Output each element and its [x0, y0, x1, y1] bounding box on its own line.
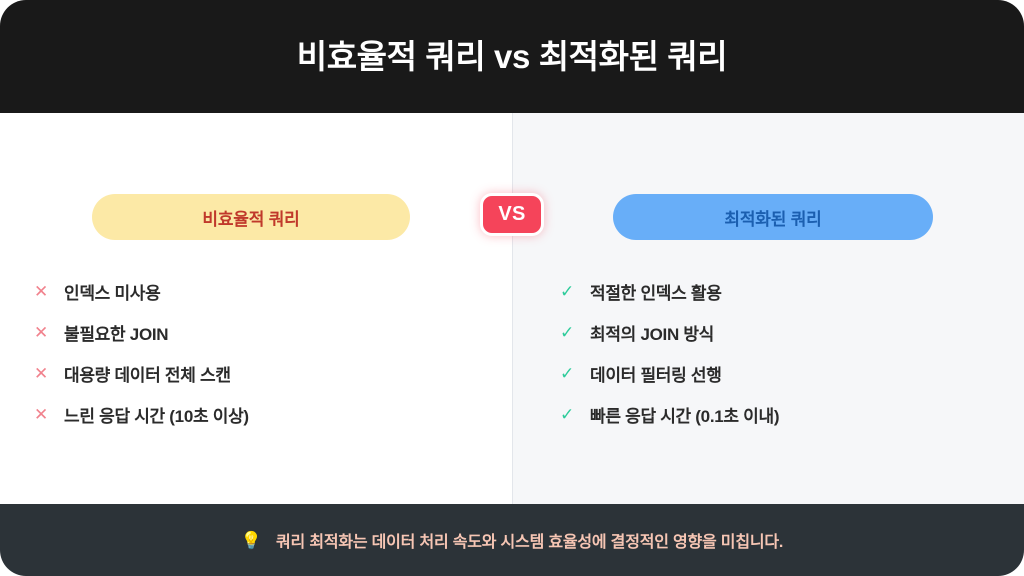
list-item: ✕ 불필요한 JOIN: [0, 312, 512, 353]
list-item: ✓ 적절한 인덱스 활용: [513, 271, 1024, 312]
list-item-label: 대용량 데이터 전체 스캔: [64, 361, 231, 386]
list-item: ✕ 느린 응답 시간 (10초 이상): [0, 394, 512, 435]
cross-icon: ✕: [34, 406, 64, 423]
versus-badge-label: VS: [498, 203, 525, 226]
versus-badge-glow: VS: [474, 186, 550, 242]
list-item-label: 적절한 인덱스 활용: [590, 279, 722, 304]
header-bar: 비효율적 쿼리 vs 최적화된 쿼리: [0, 0, 1024, 113]
list-item-label: 최적의 JOIN 방식: [590, 320, 714, 345]
check-icon: ✓: [560, 365, 590, 382]
check-icon: ✓: [560, 283, 590, 300]
list-item: ✕ 인덱스 미사용: [0, 271, 512, 312]
slide-canvas: 비효율적 쿼리 vs 최적화된 쿼리 비효율적 쿼리 ✕ 인덱스 미사용 ✕ 불…: [0, 0, 1024, 576]
left-panel-pill: 비효율적 쿼리: [92, 194, 410, 240]
panel-optimized-query: 최적화된 쿼리 ✓ 적절한 인덱스 활용 ✓ 최적의 JOIN 방식 ✓ 데이터…: [512, 113, 1024, 504]
lightbulb-icon: 💡: [241, 532, 262, 549]
list-item-label: 느린 응답 시간 (10초 이상): [64, 402, 249, 427]
check-icon: ✓: [560, 406, 590, 423]
list-item: ✓ 최적의 JOIN 방식: [513, 312, 1024, 353]
footer-note: 쿼리 최적화는 데이터 처리 속도와 시스템 효율성에 결정적인 영향을 미칩니…: [276, 528, 783, 552]
cross-icon: ✕: [34, 324, 64, 341]
list-item-label: 데이터 필터링 선행: [590, 361, 722, 386]
list-item-label: 불필요한 JOIN: [64, 320, 168, 345]
right-panel-pill: 최적화된 쿼리: [613, 194, 933, 240]
right-panel-list: ✓ 적절한 인덱스 활용 ✓ 최적의 JOIN 방식 ✓ 데이터 필터링 선행 …: [513, 271, 1024, 435]
list-item: ✓ 빠른 응답 시간 (0.1초 이내): [513, 394, 1024, 435]
versus-badge: VS: [480, 193, 544, 236]
list-item-label: 빠른 응답 시간 (0.1초 이내): [590, 402, 779, 427]
left-panel-pill-label: 비효율적 쿼리: [202, 205, 299, 230]
comparison-body: 비효율적 쿼리 ✕ 인덱스 미사용 ✕ 불필요한 JOIN ✕ 대용량 데이터 …: [0, 113, 1024, 504]
left-panel-list: ✕ 인덱스 미사용 ✕ 불필요한 JOIN ✕ 대용량 데이터 전체 스캔 ✕ …: [0, 271, 512, 435]
panel-inefficient-query: 비효율적 쿼리 ✕ 인덱스 미사용 ✕ 불필요한 JOIN ✕ 대용량 데이터 …: [0, 113, 512, 504]
footer-bar: 💡 쿼리 최적화는 데이터 처리 속도와 시스템 효율성에 결정적인 영향을 미…: [0, 504, 1024, 576]
right-panel-pill-label: 최적화된 쿼리: [724, 205, 821, 230]
list-item: ✕ 대용량 데이터 전체 스캔: [0, 353, 512, 394]
list-item-label: 인덱스 미사용: [64, 279, 160, 304]
list-item: ✓ 데이터 필터링 선행: [513, 353, 1024, 394]
check-icon: ✓: [560, 324, 590, 341]
cross-icon: ✕: [34, 283, 64, 300]
cross-icon: ✕: [34, 365, 64, 382]
page-title: 비효율적 쿼리 vs 최적화된 쿼리: [297, 37, 728, 77]
